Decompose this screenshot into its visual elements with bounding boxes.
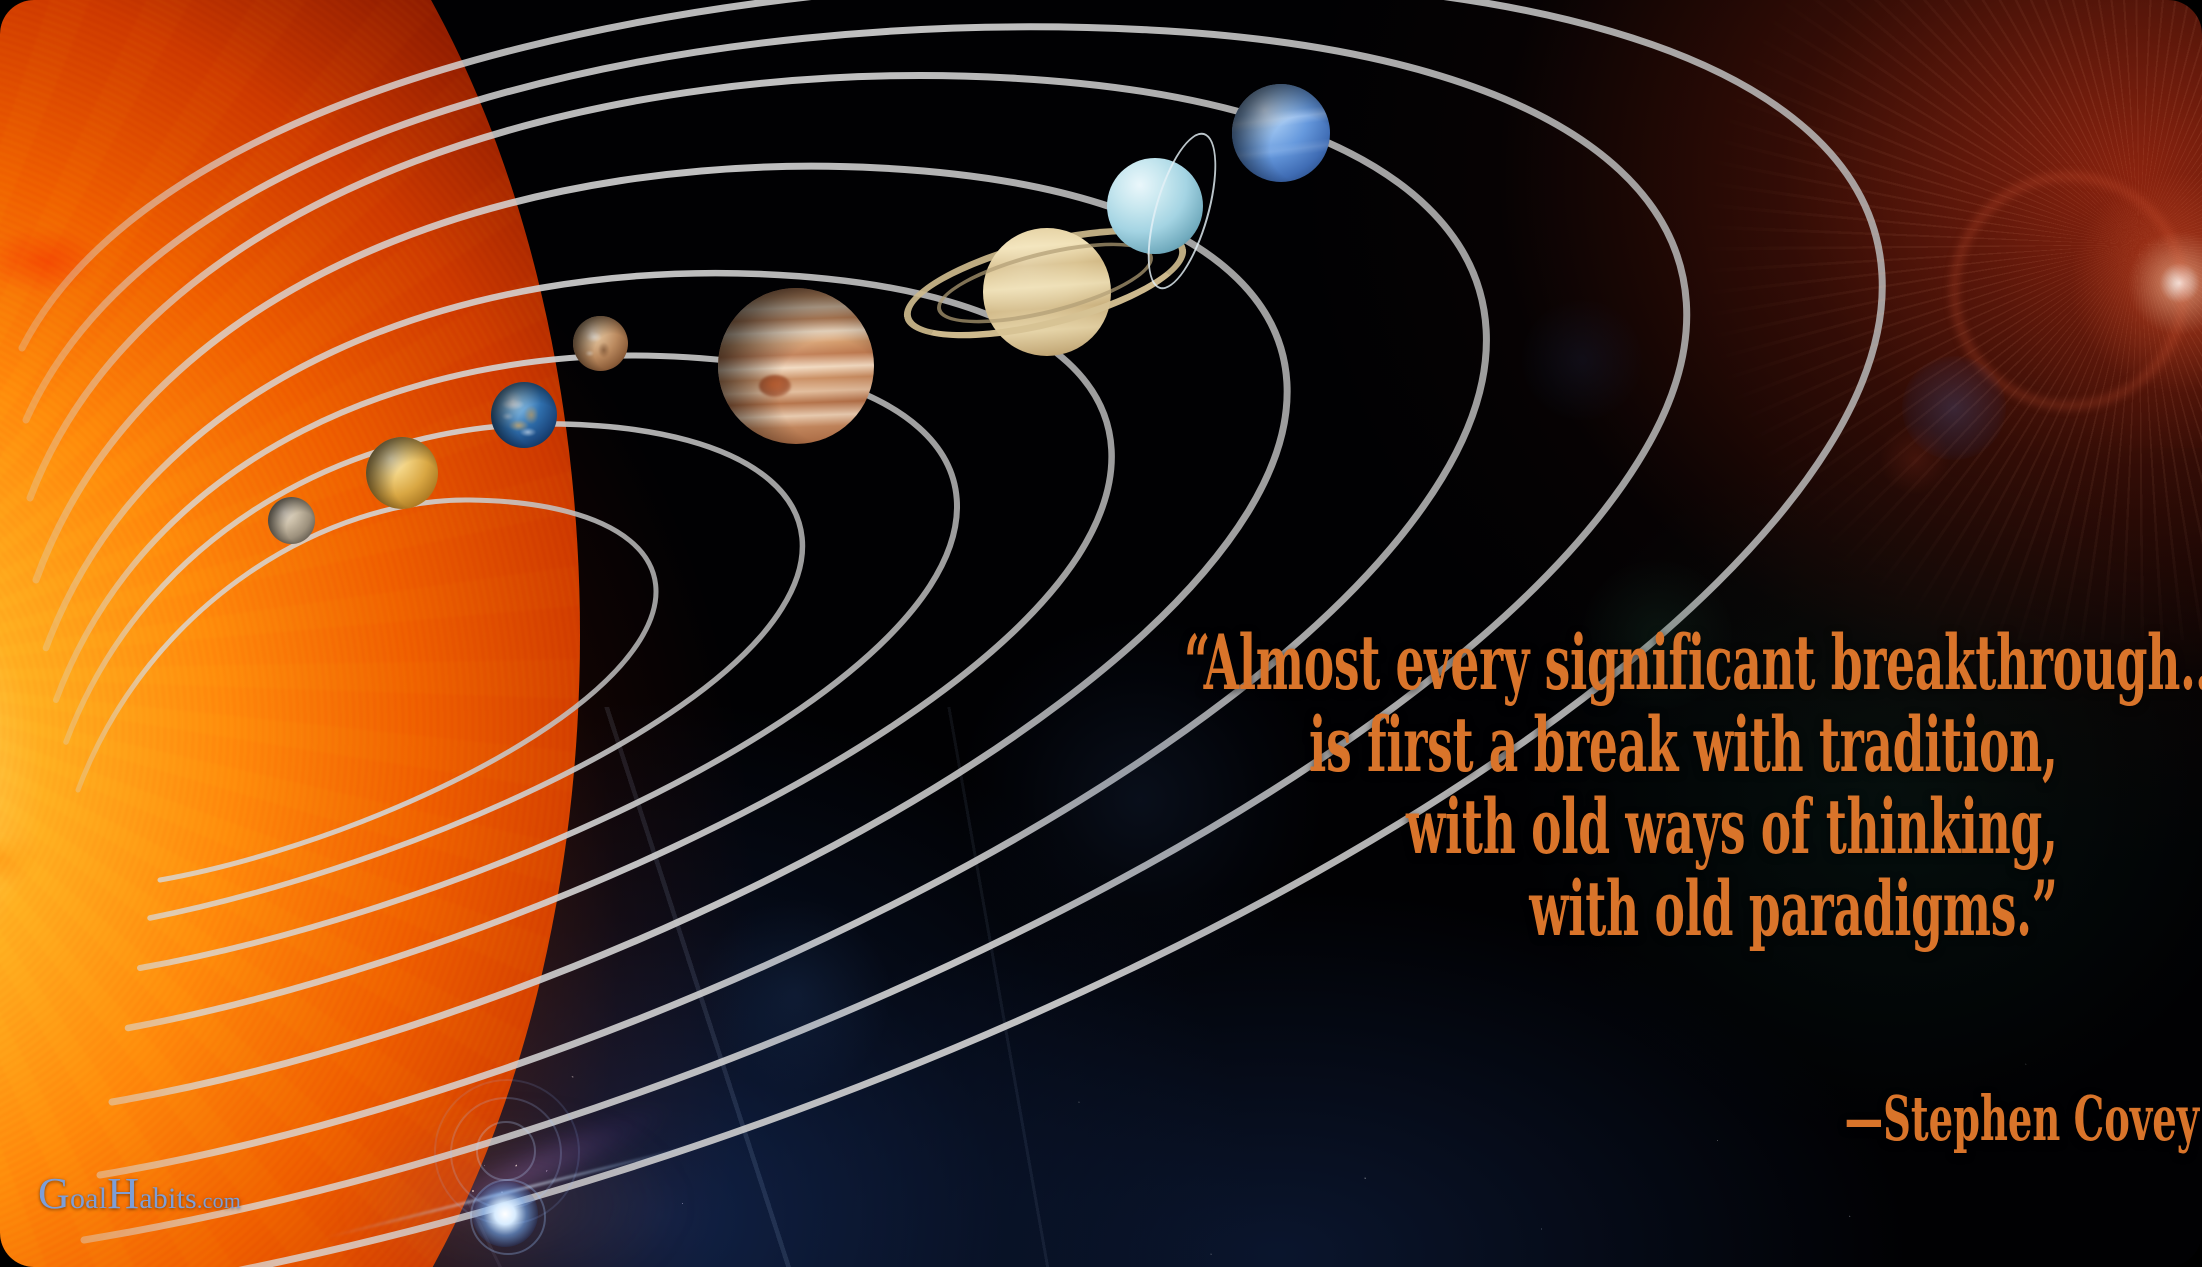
planet-uranus-group — [1089, 110, 1249, 300]
planet-venus — [366, 437, 438, 509]
planet-earth — [491, 382, 557, 448]
planet-mars — [573, 316, 628, 371]
logo-lead-cap: G — [38, 1169, 70, 1218]
earth-shadow — [491, 382, 557, 448]
quote-line-2: is first a break with tradition, — [1184, 707, 2120, 783]
goalhabits-logo[interactable]: GoalHabits.com — [38, 1182, 241, 1216]
poster-canvas: “Almost every significant breakthrough… … — [0, 0, 2202, 1267]
quote-line-3: with old ways of thinking, — [1184, 789, 2120, 865]
logo-second-cap: H — [107, 1169, 139, 1218]
jupiter-shadow — [718, 288, 874, 444]
venus-shadow — [366, 437, 438, 509]
quote-attribution: —Stephen Covey — [1232, 1082, 2202, 1155]
logo-part-two: abits — [139, 1182, 197, 1215]
planet-jupiter — [718, 288, 874, 444]
planet-mercury — [268, 497, 315, 544]
mercury-shadow — [268, 497, 315, 544]
quote-line-4: with old paradigms.” — [1184, 871, 2120, 947]
neptune-shadow — [1232, 84, 1330, 182]
logo-part-one: oal — [70, 1182, 107, 1215]
quote-text-block: “Almost every significant breakthrough… … — [560, 625, 2120, 953]
logo-tld: .com — [197, 1188, 241, 1213]
planet-neptune — [1232, 84, 1330, 182]
quote-line-1: “Almost every significant breakthrough… — [1184, 625, 2120, 701]
mars-shadow — [573, 316, 628, 371]
